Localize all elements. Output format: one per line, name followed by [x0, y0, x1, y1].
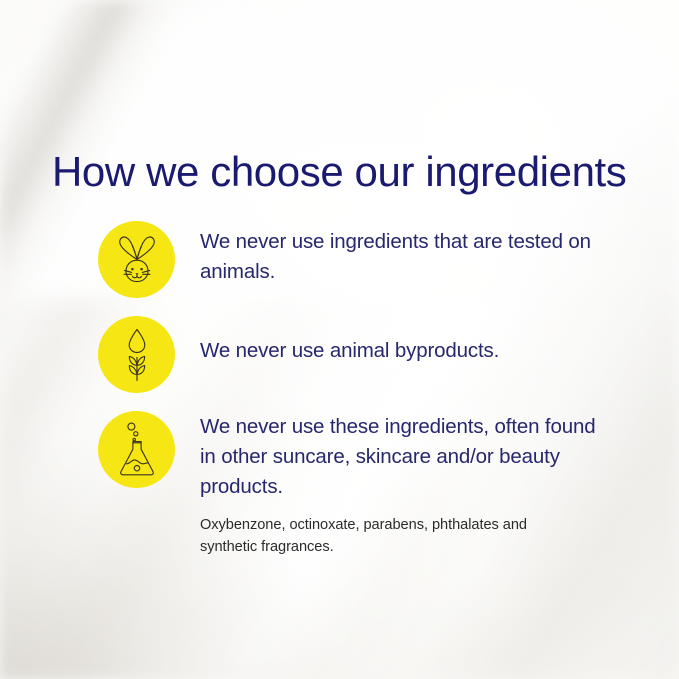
marketing-panel: How we choose our ingredients: [0, 0, 679, 679]
claim-text: We never use ingredients that are tested…: [200, 227, 600, 287]
claim-item: We never use animal byproducts.: [98, 316, 499, 393]
erlenmeyer-flask-icon: [98, 411, 175, 488]
claim-item: We never use these ingredients, often fo…: [98, 411, 600, 502]
fine-print-ingredient-list: Oxybenzone, octinoxate, parabens, phthal…: [200, 514, 560, 558]
claim-text-wrap: We never use animal byproducts.: [200, 316, 499, 366]
claim-item: We never use ingredients that are tested…: [98, 221, 600, 298]
claim-text: We never use animal byproducts.: [200, 336, 499, 366]
bunny-heart-ears-icon: [98, 221, 175, 298]
leaf-sprig-droplet-icon: [98, 316, 175, 393]
claim-text-wrap: We never use these ingredients, often fo…: [200, 411, 600, 502]
page-title: How we choose our ingredients: [52, 149, 626, 194]
claim-text-wrap: We never use ingredients that are tested…: [200, 221, 600, 287]
claim-text: We never use these ingredients, often fo…: [200, 412, 600, 502]
